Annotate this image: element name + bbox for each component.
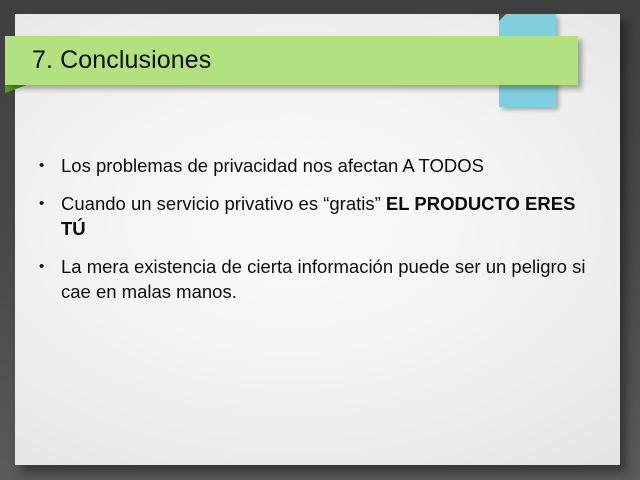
bullet-point-icon: • [39,254,61,279]
bullet-text: Los problemas de privacidad nos afectan … [61,153,591,178]
accent-bar-fold-icon [499,14,506,21]
bullet-text: Cuando un servicio privativo es “gratis”… [61,191,591,241]
bullet-item: •La mera existencia de cierta informació… [39,254,599,304]
slide-title: 7. Conclusiones [32,48,211,73]
bullet-point-icon: • [39,191,61,216]
slide-bullet-list: •Los problemas de privacidad nos afectan… [39,153,599,317]
bullet-item: •Los problemas de privacidad nos afectan… [39,153,599,178]
bullet-text-segment: Los problemas de privacidad nos afectan … [61,155,484,176]
bullet-text: La mera existencia de cierta información… [61,254,591,304]
bullet-text-segment: La mera existencia de cierta información… [61,256,585,302]
title-banner-fold-icon [5,85,27,93]
bullet-point-icon: • [39,153,61,178]
slide-title-banner: 7. Conclusiones [5,36,578,85]
bullet-text-segment: Cuando un servicio privativo es “gratis” [61,193,386,214]
bullet-item: •Cuando un servicio privativo es “gratis… [39,191,599,241]
presentation-viewport: •Los problemas de privacidad nos afectan… [0,0,640,480]
